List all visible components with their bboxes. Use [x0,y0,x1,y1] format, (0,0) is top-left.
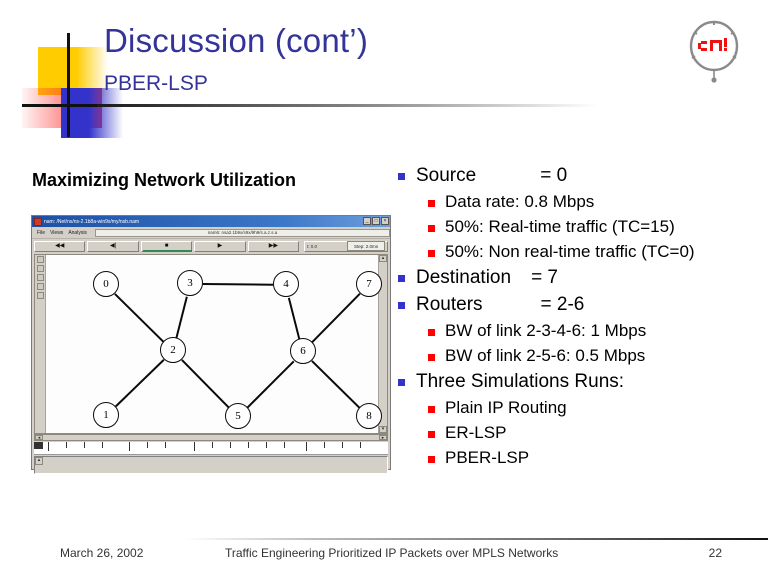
bullet-text: BW of link 2-5-6: 0.5 Mbps [445,344,645,368]
topology-link [288,297,300,339]
nam-menubar: File Views Analysis nam6: nsa2.1b9x/s9x/… [32,227,390,239]
left-column-heading: Maximizing Network Utilization [32,170,296,191]
scroll-up-icon[interactable]: ▴ [379,255,387,262]
topology-link [182,360,230,409]
monitor-scroll-up-icon[interactable]: ▴ [35,457,43,465]
nam-timeline-ruler[interactable] [34,442,388,455]
bullet-square-blue-icon [398,379,405,386]
nam-canvas-area: 034726158 ▴ ▾ [34,254,388,434]
bullet-text: Three Simulations Runs: [416,369,624,395]
bullet-text: ER-LSP [445,421,506,445]
topology-link [175,296,187,338]
rewind-button[interactable]: ◀◀ [34,241,85,252]
ruler-tick [165,442,166,448]
cnl-logo-icon [682,18,746,86]
tool-zoom-in-icon[interactable] [37,256,44,263]
bullet-text: Destination [416,265,511,291]
bullet-item: ER-LSP [428,421,766,445]
ruler-tick [324,442,325,448]
play-icon: ▶ [218,243,223,249]
ruler-tick [66,442,67,448]
ruler-handle-icon[interactable] [34,442,43,449]
stop-button[interactable]: ■ [141,241,192,252]
topology-link [203,283,273,285]
ruler-tick [48,442,49,451]
bullet-item: 50%: Real-time traffic (TC=15) [428,215,766,239]
topology-node[interactable]: 4 [273,271,299,297]
topology-node[interactable]: 0 [93,271,119,297]
back-step-button[interactable]: ◀| [87,241,138,252]
bullet-square-red-icon [428,431,435,438]
bullet-square-red-icon [428,329,435,336]
window-controls: _ □ × [363,217,389,225]
bullet-item: Plain IP Routing [428,396,766,420]
canvas-horizontal-scrollbar[interactable]: ◂ ▸ [34,434,388,441]
footer-date: March 26, 2002 [60,546,143,560]
bullet-text: 50%: Non real-time traffic (TC=0) [445,240,695,264]
nam-titlebar: nam: /Net/ns/ns-2.1b8a-win9x/my/nsb.nam … [32,216,390,227]
menu-file[interactable]: File [37,230,45,236]
menu-views[interactable]: Views [50,230,63,236]
fast-forward-icon: ▶▶ [269,243,278,249]
back-step-icon: ◀| [110,243,116,249]
ruler-tick [194,442,195,451]
nam-application-window: nam: /Net/ns/ns-2.1b8a-win9x/my/nsb.nam … [31,215,391,470]
bullet-square-red-icon [428,200,435,207]
nam-time-value: t: 0.0 [307,244,317,249]
topology-link [312,294,361,344]
bullet-value: = 2-6 [541,292,585,318]
stop-icon: ■ [165,243,169,249]
bullet-text: Plain IP Routing [445,396,567,420]
ruler-tick [266,442,267,448]
page-title: Discussion (cont’) [104,22,368,60]
bullet-text: 50%: Real-time traffic (TC=15) [445,215,675,239]
ruler-tick [230,442,231,448]
bullet-item: BW of link 2-5-6: 0.5 Mbps [428,344,766,368]
bullet-square-blue-icon [398,302,405,309]
decoration-vertical-line [67,33,70,137]
bullet-value: = 0 [540,163,567,189]
ruler-tick [212,442,213,448]
topology-node[interactable]: 7 [356,271,382,297]
bullet-text: Data rate: 0.8 Mbps [445,190,594,214]
bullet-text: Routers [416,292,483,318]
topology-node[interactable]: 2 [160,337,186,363]
topology-node[interactable]: 5 [225,403,251,429]
bullet-item: Source= 0 [398,163,766,189]
topology-node[interactable]: 6 [290,338,316,364]
fast-forward-button[interactable]: ▶▶ [248,241,299,252]
page-subtitle: PBER-LSP [104,72,208,96]
bullet-square-red-icon [428,456,435,463]
topology-link [312,360,361,408]
ruler-tick [102,442,103,448]
bullet-value: = 7 [531,265,558,291]
topology-link [247,360,295,408]
slide-footer: March 26, 2002 Traffic Engineering Prior… [0,546,768,570]
topology-node[interactable]: 8 [356,403,382,429]
bullet-item: Routers= 2-6 [398,292,766,318]
bullet-text: BW of link 2-3-4-6: 1 Mbps [445,319,646,343]
rewind-icon: ◀◀ [55,243,64,249]
bullet-item: BW of link 2-3-4-6: 1 Mbps [428,319,766,343]
footer-rule [184,538,768,540]
bullet-square-blue-icon [398,173,405,180]
bullet-item: 50%: Non real-time traffic (TC=0) [428,240,766,264]
tool-pointer-icon[interactable] [37,292,44,299]
footer-page-number: 22 [709,546,722,560]
nam-file-field-value: nam6: nsa2.1b9x/s9x/9h9/s.a.z.s.a [208,230,278,235]
topology-node[interactable]: 1 [93,402,119,428]
ruler-tick [248,442,249,448]
bullet-item: PBER-LSP [428,446,766,470]
ruler-tick [360,442,361,448]
bullet-item: Data rate: 0.8 Mbps [428,190,766,214]
ruler-tick [342,442,343,448]
scroll-right-icon[interactable]: ▸ [379,435,387,440]
maximize-button[interactable]: □ [372,217,380,225]
nam-time-display: t: 0.0 Step: 2.0ms [304,241,388,252]
ruler-tick [284,442,285,448]
bullet-text: Source [416,163,476,189]
close-button[interactable]: × [381,217,389,225]
decoration-horizontal-line [22,104,102,107]
topology-link [115,359,165,407]
bullet-item: Destination= 7 [398,265,766,291]
nam-window-title: nam: /Net/ns/ns-2.1b8a-win9x/my/nsb.nam [44,219,139,225]
bullet-text: PBER-LSP [445,446,529,470]
scroll-left-icon[interactable]: ◂ [35,435,43,440]
ruler-tick [84,442,85,448]
scroll-down-icon[interactable]: ▾ [379,426,387,433]
topology-link [115,293,165,342]
tool-zoom-out-icon[interactable] [37,265,44,272]
bullet-square-red-icon [428,225,435,232]
nam-app-icon [34,218,42,226]
ruler-tick [306,442,307,451]
menu-analysis[interactable]: Analysis [68,230,87,236]
bullet-list: Source= 0Data rate: 0.8 Mbps50%: Real-ti… [398,163,766,471]
nam-file-field[interactable]: nam6: nsa2.1b9x/s9x/9h9/s.a.z.s.a [95,229,390,237]
bullet-square-blue-icon [398,275,405,282]
topology-node[interactable]: 3 [177,270,203,296]
nam-step-field[interactable]: Step: 2.0ms [347,241,385,251]
play-button[interactable]: ▶ [194,241,245,252]
network-topology-canvas[interactable]: 034726158 [46,255,378,433]
ruler-tick [129,442,130,451]
footer-title: Traffic Engineering Prioritized IP Packe… [225,546,558,560]
nam-step-value: Step: 2.0ms [354,244,378,249]
tool-label-icon[interactable] [37,274,44,281]
nam-monitor-panel: ▴ [34,456,388,474]
ruler-tick [147,442,148,448]
slide-header: Discussion (cont’) PBER-LSP [0,0,768,140]
nam-tool-palette [35,255,46,433]
bullet-square-red-icon [428,354,435,361]
bullet-square-red-icon [428,250,435,257]
bullet-item: Three Simulations Runs: [398,369,766,395]
minimize-button[interactable]: _ [363,217,371,225]
nam-playback-toolbar: ◀◀ ◀| ■ ▶ ▶▶ t: 0.0 Step: 2.0ms [32,239,390,253]
title-underline-rule [97,104,597,107]
tool-select-icon[interactable] [37,283,44,290]
bullet-square-red-icon [428,406,435,413]
